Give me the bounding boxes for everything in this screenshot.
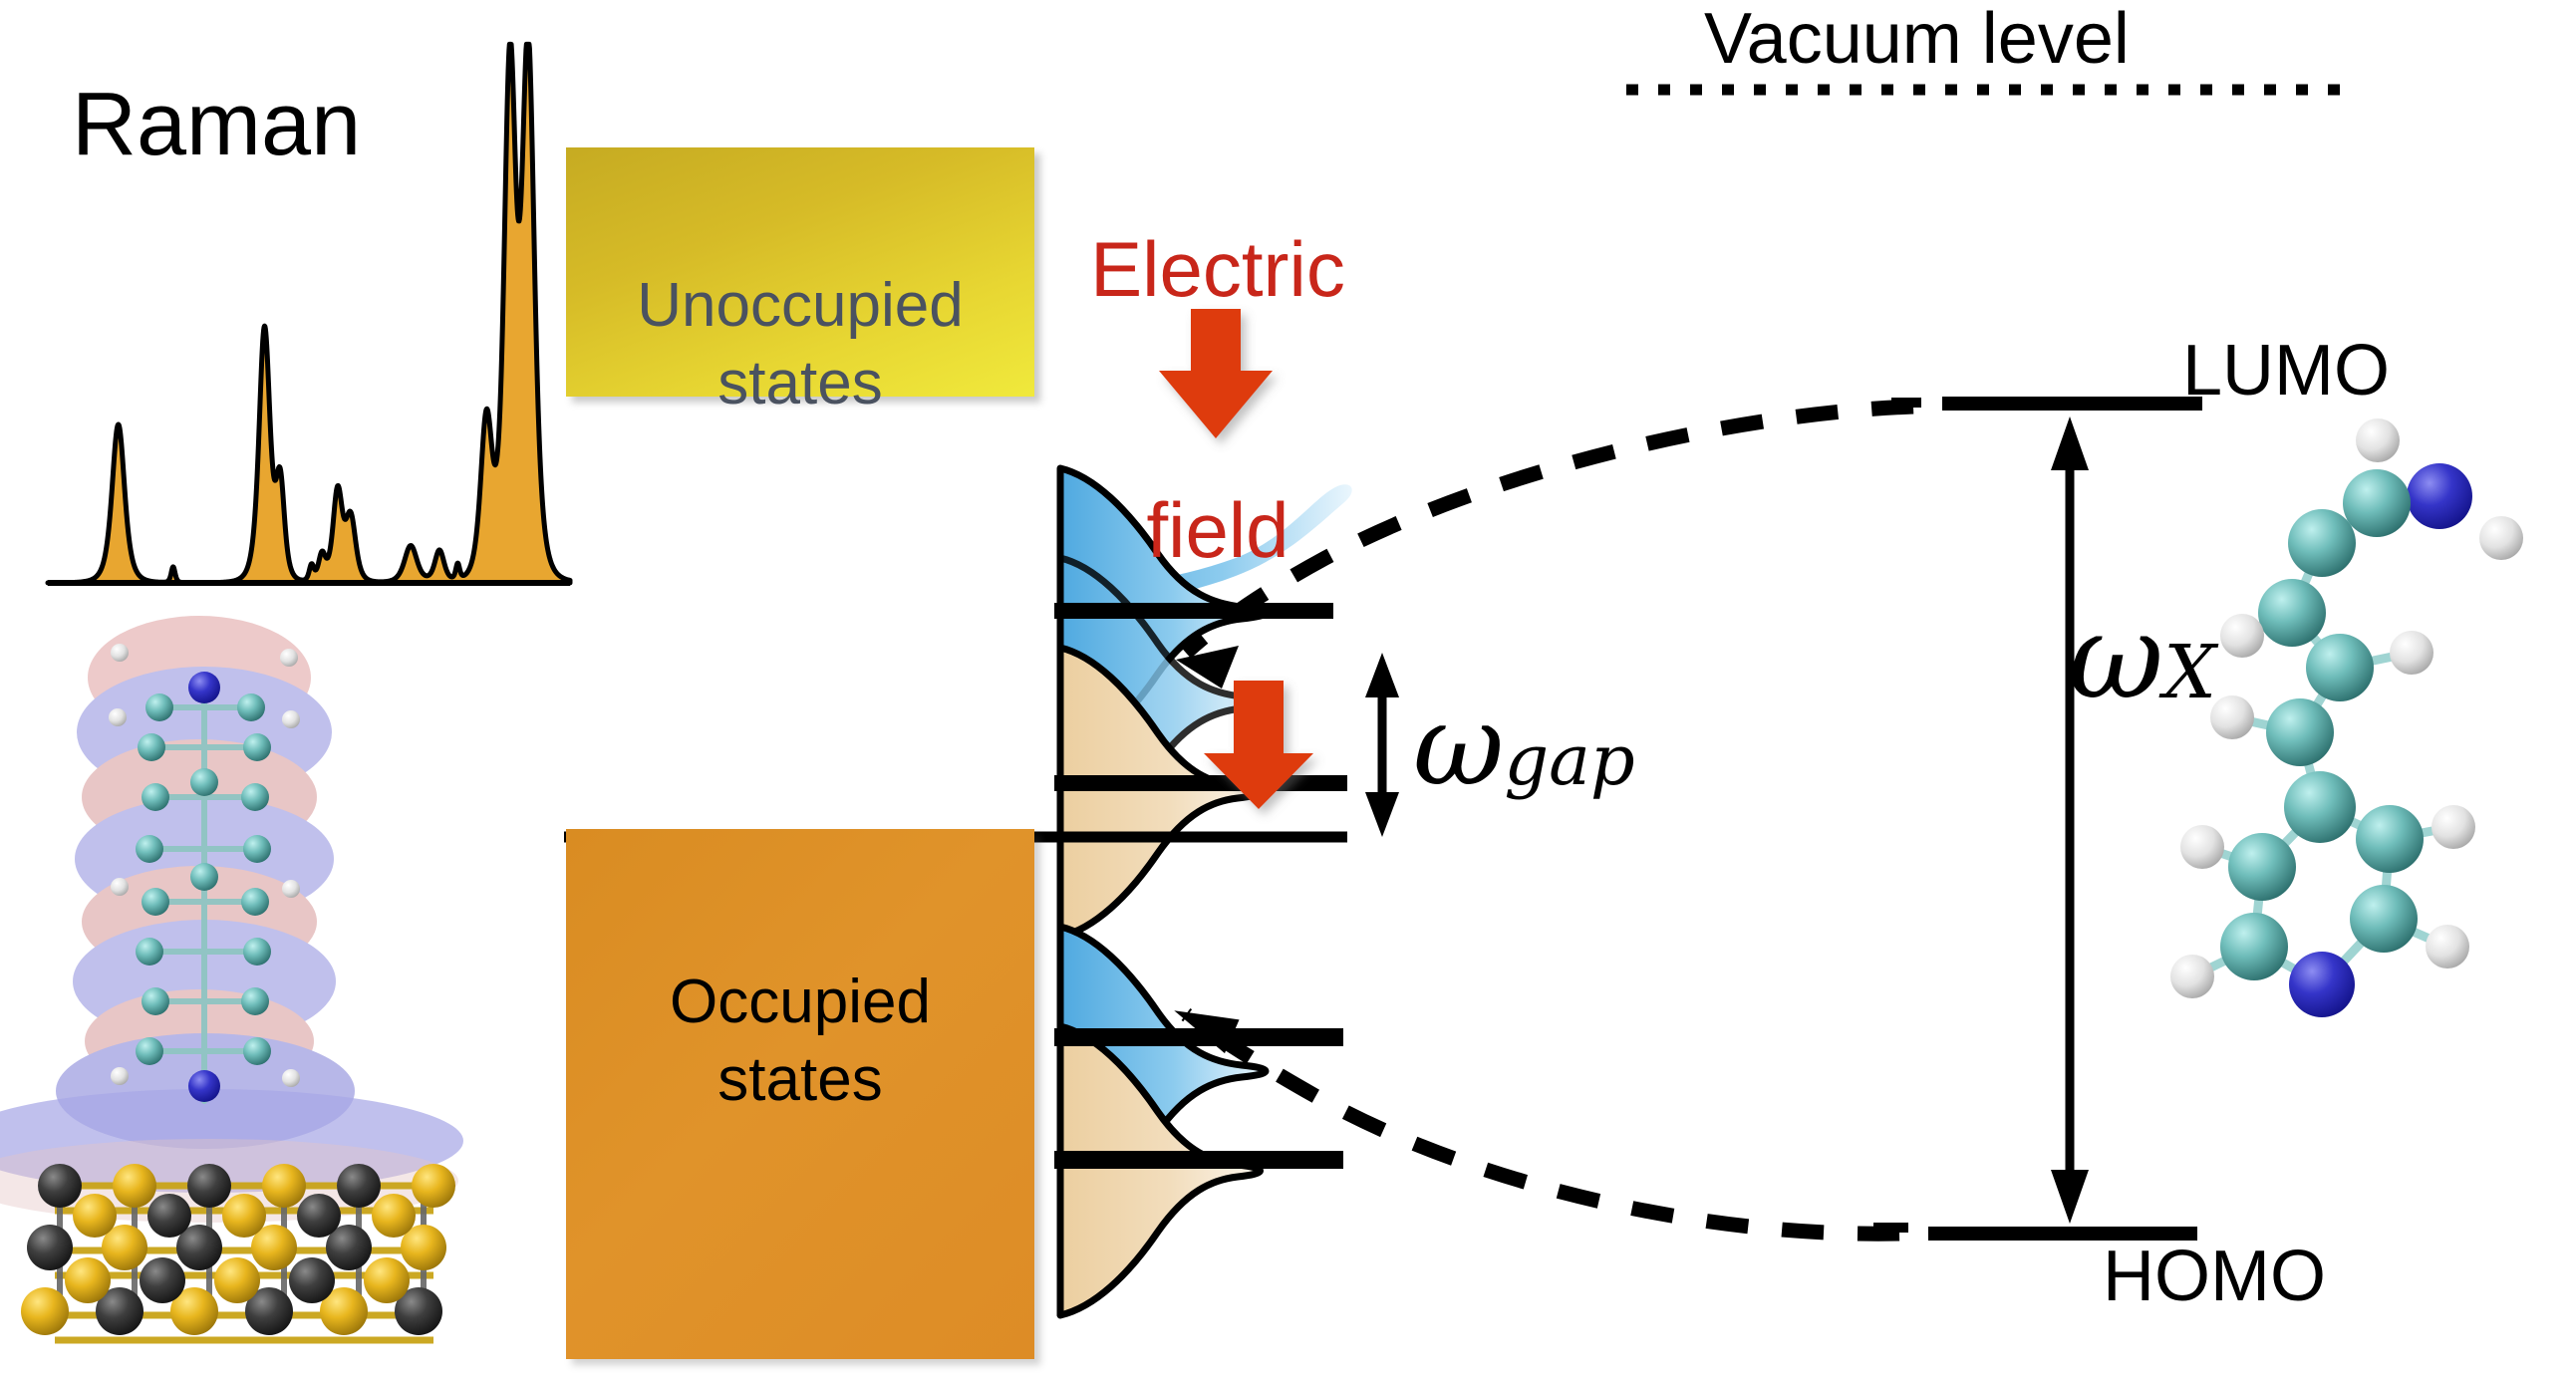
omega-symbol: ω (1413, 682, 1504, 811)
atom-hydrogen (2390, 631, 2433, 675)
atom-hydrogen (2426, 925, 2469, 969)
raman-title: Raman (72, 78, 361, 172)
atom-hydrogen (2479, 516, 2523, 560)
atom-carbon (2228, 833, 2296, 901)
atom-carbon (2350, 885, 2418, 953)
omega-gap-arrow-icon (1365, 653, 1399, 837)
figure-canvas: Unoccupied states Occupied states Raman … (0, 0, 2576, 1384)
atom-hydrogen (2170, 955, 2214, 998)
omega-gap-subscript: gap (1504, 719, 1634, 801)
unoccupied-states-label: Unoccupied states (566, 267, 1034, 421)
atom-nitrogen (2407, 463, 2472, 529)
occupied-states-label: Occupied states (566, 964, 1034, 1118)
atom-carbon (2343, 469, 2411, 537)
atom-hydrogen (2210, 695, 2254, 739)
omega-gap-label: ωgap (1413, 682, 1635, 811)
charge-density-model (0, 616, 463, 1340)
dashed-curve-homo (1186, 1014, 1899, 1234)
atom-carbon (2288, 509, 2356, 577)
homo-label: HOMO (2103, 1240, 2326, 1315)
atom-carbon (2356, 805, 2424, 873)
atom-carbon (2306, 634, 2374, 701)
atom-hydrogen (2432, 805, 2475, 849)
unoccupied-states-box: Unoccupied states (566, 147, 1034, 397)
atom-carbon (2284, 771, 2356, 843)
omega-symbol: ω (2068, 588, 2163, 725)
atom-carbon (2258, 579, 2326, 647)
vacuum-level-label: Vacuum level (1704, 2, 2130, 78)
omega-x-arrow-icon (2051, 416, 2089, 1224)
atom-carbon (2266, 698, 2334, 766)
atom-hydrogen (2356, 418, 2400, 462)
omega-x-subscript: X (2163, 630, 2216, 715)
atom-nitrogen (2289, 952, 2355, 1017)
molecule-bpe-model (2170, 418, 2523, 1017)
omega-x-label: ωX (2068, 588, 2216, 725)
atom-carbon (2220, 913, 2288, 980)
atom-hydrogen (2180, 825, 2224, 869)
lumo-label: LUMO (2182, 334, 2390, 410)
atom-hydrogen (2220, 614, 2264, 658)
occupied-states-box: Occupied states (566, 829, 1034, 1359)
electric-field-label: Electric field (1068, 52, 1367, 748)
